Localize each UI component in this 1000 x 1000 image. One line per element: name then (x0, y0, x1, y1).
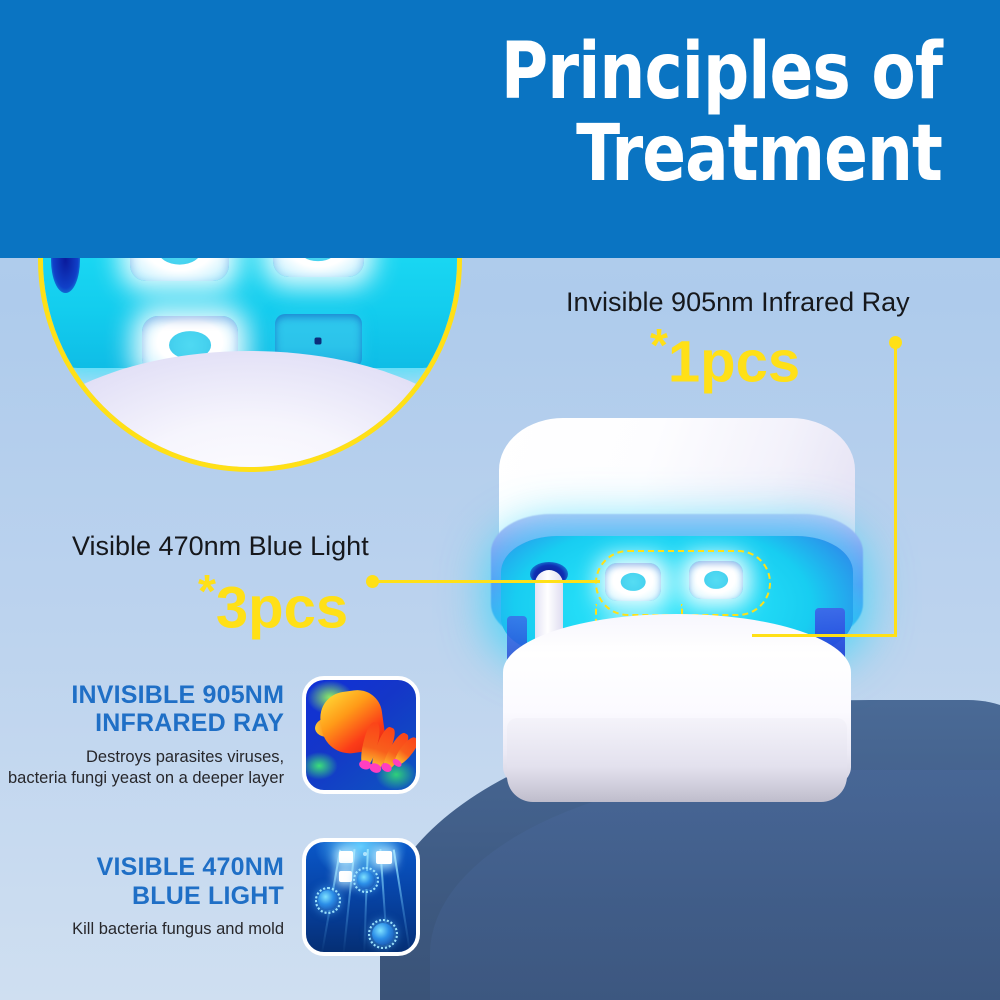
feature-card-blue-light-sub: Kill bacteria fungus and mold (8, 919, 284, 940)
blue-light-annotation: Visible 470nm Blue Light *3pcs (72, 531, 369, 637)
feature-card-blue-light-text: VISIBLE 470NM BLUE LIGHT Kill bacteria f… (8, 853, 302, 940)
blue-light-germs-icon (302, 838, 420, 956)
feature-card-blue-light-heading: VISIBLE 470NM BLUE LIGHT (8, 853, 284, 910)
infrared-count-value: 1pcs (668, 329, 800, 394)
blue-light-annotation-label: Visible 470nm Blue Light (72, 531, 369, 562)
feature-card-blue-light-sub-line-1: Kill bacteria fungus and mold (8, 919, 284, 940)
feature-card-infrared-heading-line-1: INVISIBLE 905NM (8, 681, 284, 710)
germ-2 (357, 871, 376, 890)
blue-light-count-prefix: * (198, 565, 216, 617)
infrared-annotation: Invisible 905nm Infrared Ray *1pcs (566, 287, 910, 391)
infographic-poster: Principles of Treatment Invisible 905nm … (0, 0, 1000, 1000)
germ-3 (372, 923, 394, 945)
page-title-line-2: Treatment (390, 114, 942, 196)
feature-card-blue-light-heading-line-1: VISIBLE 470NM (8, 853, 284, 882)
feature-card-infrared: INVISIBLE 905NM INFRARED RAY Destroys pa… (8, 676, 420, 794)
feature-card-infrared-sub: Destroys parasites viruses, bacteria fun… (8, 747, 284, 789)
device-illustration (497, 418, 857, 818)
feature-card-infrared-sub-line-2: bacteria fungi yeast on a deeper layer (8, 768, 284, 789)
device-base (507, 718, 847, 802)
feature-card-infrared-heading: INVISIBLE 905NM INFRARED RAY (8, 681, 284, 738)
feature-card-blue-light: VISIBLE 470NM BLUE LIGHT Kill bacteria f… (8, 838, 420, 956)
feature-card-infrared-sub-line-1: Destroys parasites viruses, (8, 747, 284, 768)
light-ray-2 (342, 849, 355, 954)
led-square-2 (339, 871, 352, 882)
feature-card-blue-light-heading-line-2: BLUE LIGHT (8, 882, 284, 911)
blue-light-count-value: 3pcs (216, 575, 348, 640)
infrared-annotation-count: *1pcs (650, 322, 910, 391)
infrared-count-prefix: * (650, 319, 668, 371)
blue-light-connector-hline (372, 580, 600, 583)
page-title: Principles of Treatment (390, 32, 942, 196)
germ-1 (318, 890, 338, 910)
infrared-connector-hline (752, 634, 897, 637)
led-square-3 (376, 851, 391, 864)
infrared-connector-vline (894, 342, 897, 636)
led-square-1 (339, 851, 353, 863)
page-title-line-1: Principles of (390, 32, 942, 114)
feature-card-infrared-heading-line-2: INFRARED RAY (8, 709, 284, 738)
thermal-hand-icon (302, 676, 420, 794)
magnified-device-bottom-shell (38, 351, 462, 472)
infrared-annotation-label: Invisible 905nm Infrared Ray (566, 287, 910, 318)
blue-light-annotation-count: *3pcs (198, 568, 369, 637)
feature-card-infrared-text: INVISIBLE 905NM INFRARED RAY Destroys pa… (8, 681, 302, 789)
